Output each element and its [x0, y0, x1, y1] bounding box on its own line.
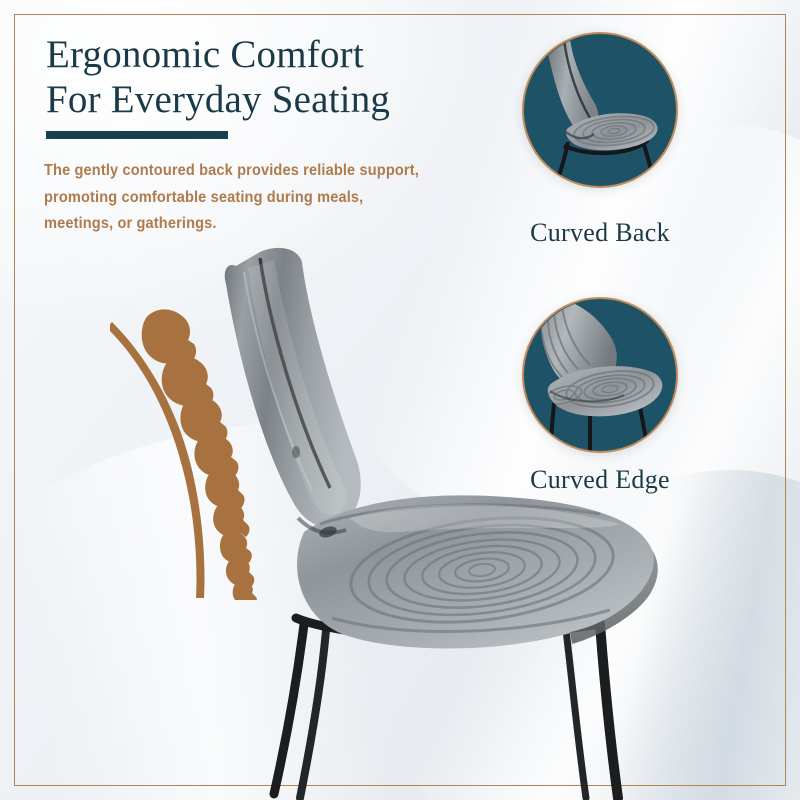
feature-label: Curved Edge	[470, 465, 730, 495]
page-title: Ergonomic Comfort For Everyday Seating	[46, 32, 476, 122]
product-infographic-canvas: Ergonomic Comfort For Everyday Seating T…	[0, 0, 800, 800]
body-description: The gently contoured back provides relia…	[44, 158, 420, 238]
chair-three-quarter-inset	[522, 297, 678, 453]
feature-label: Curved Back	[470, 218, 730, 248]
title-underline-rule	[46, 131, 228, 139]
chair-side-profile-inset	[522, 32, 678, 188]
